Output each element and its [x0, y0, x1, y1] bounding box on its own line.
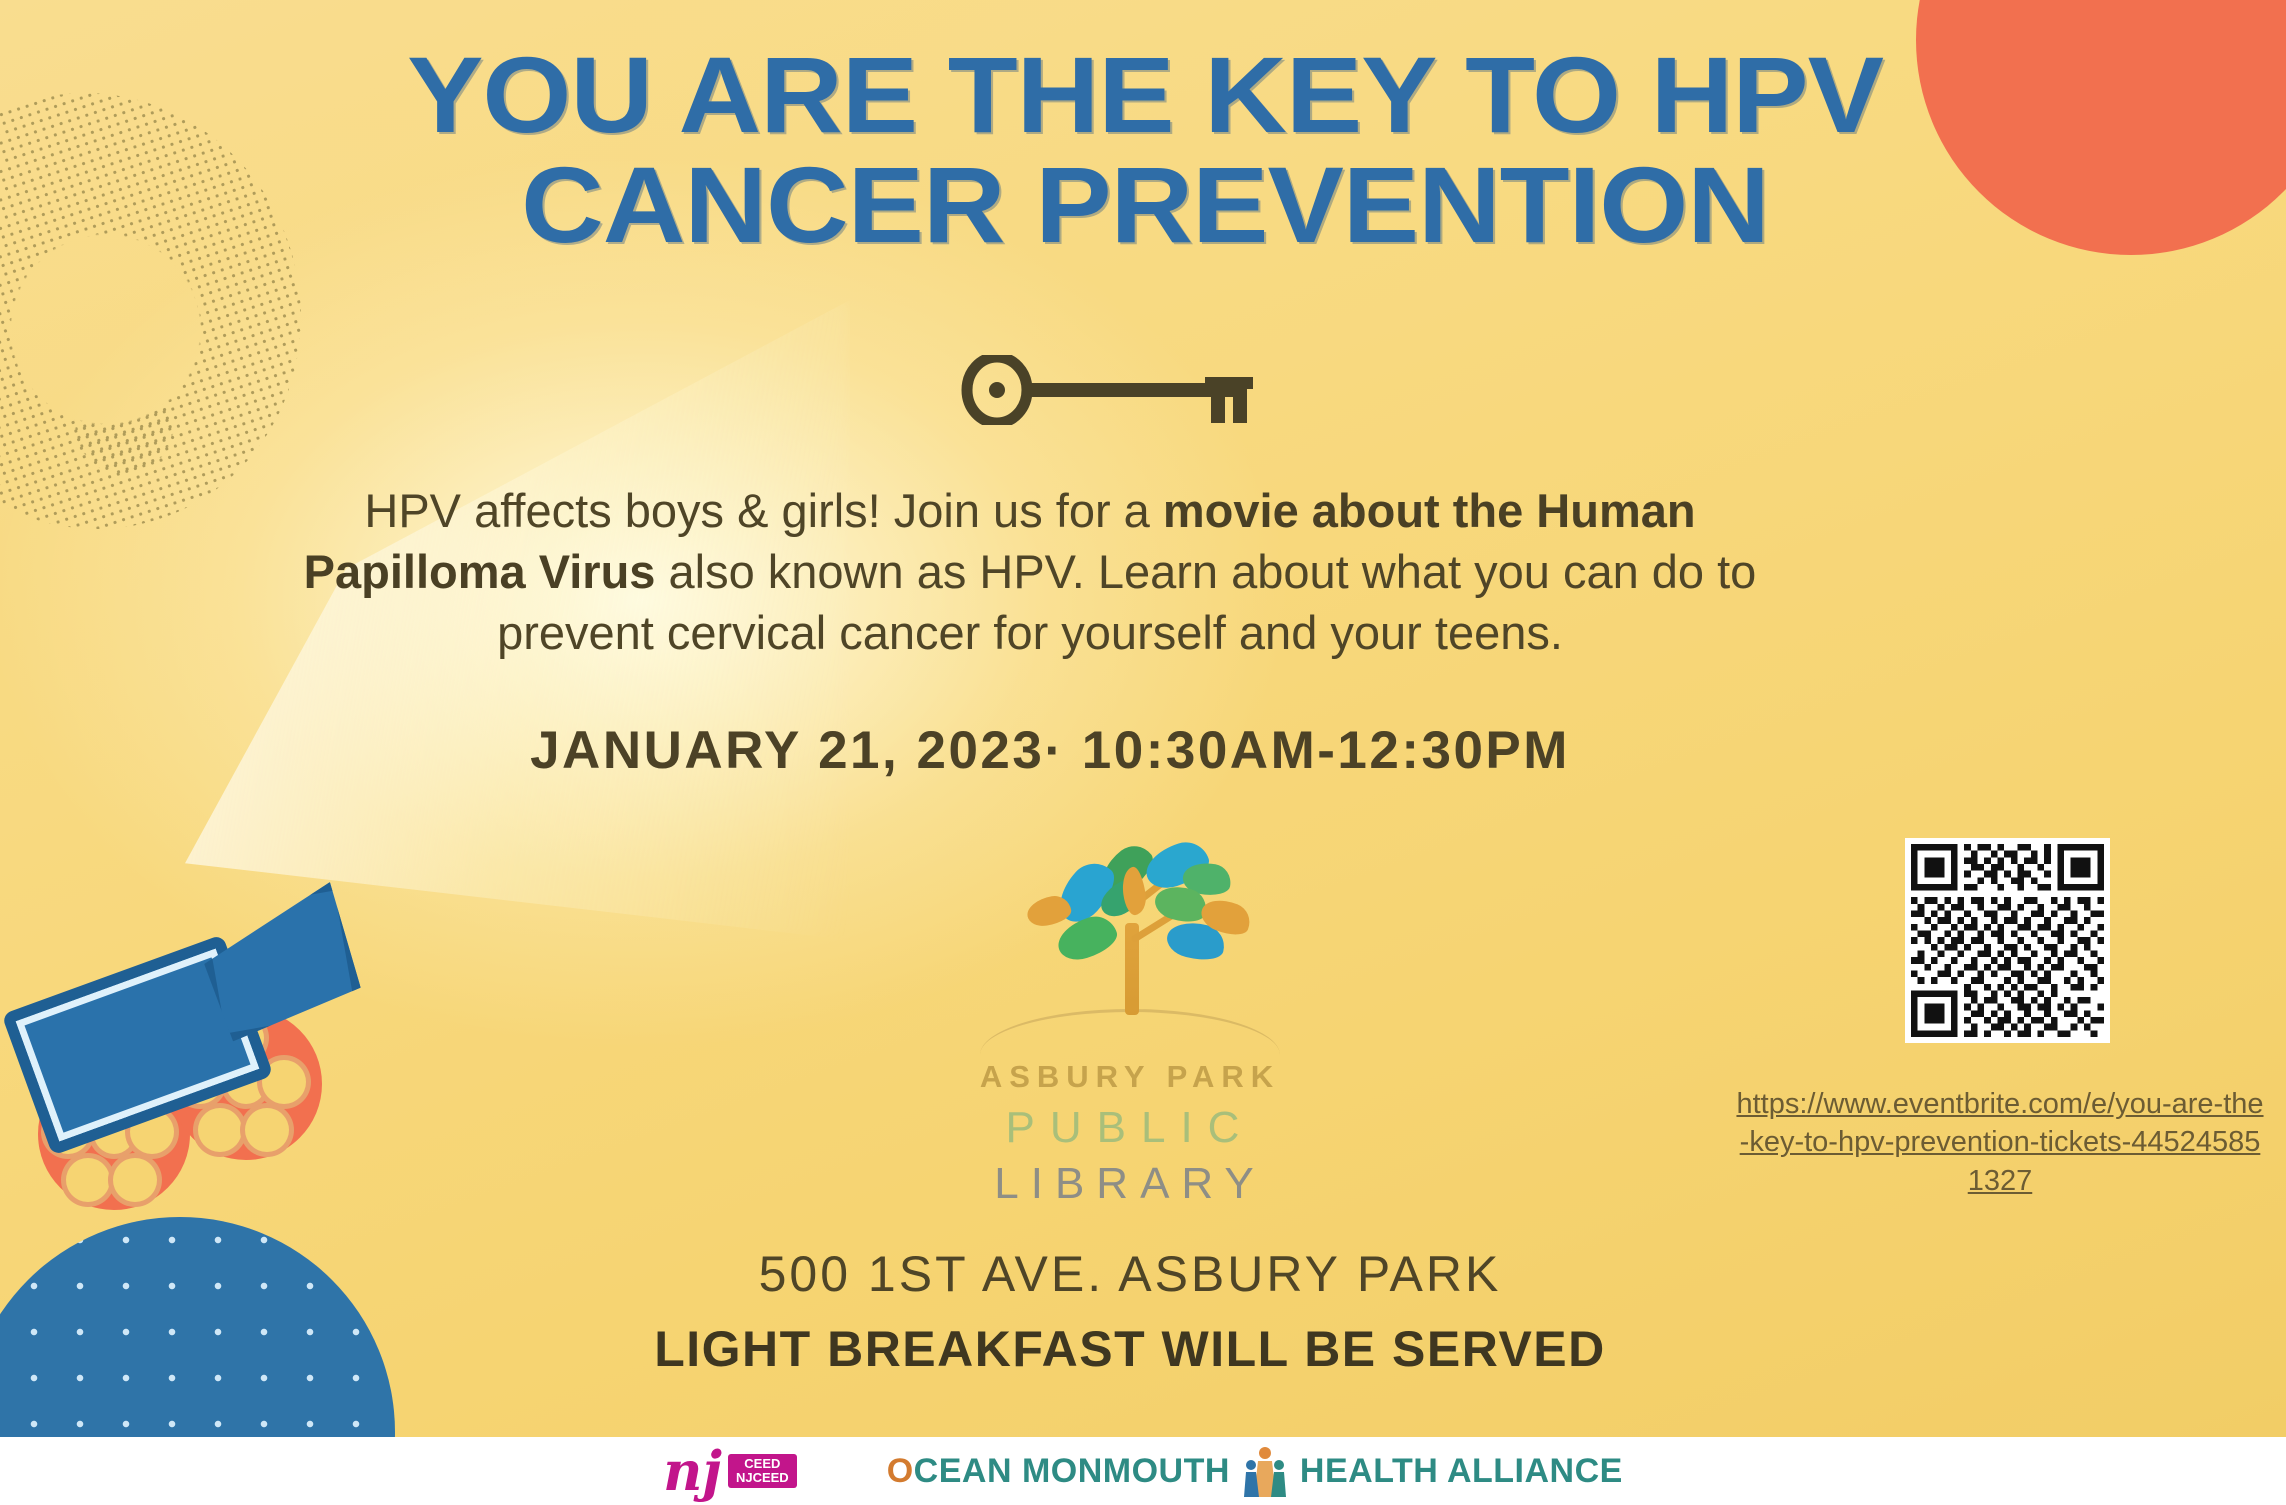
ocean-monmouth-health-alliance-logo: OCEAN MONMOUTH HEALTH ALLIANCE	[887, 1445, 1623, 1497]
tree-logo-icon	[1005, 845, 1255, 1015]
alliance-word1-rest: CEAN	[914, 1452, 1012, 1490]
family-figures-icon	[1244, 1445, 1286, 1497]
njceed-badge-line-1: CEED	[744, 1457, 780, 1471]
logo-flourish	[980, 1009, 1280, 1055]
library-name-line-3: LIBRARY	[960, 1159, 1300, 1209]
poster-content: YOU ARE THE KEY TO HPV CANCER PREVENTION…	[0, 0, 2286, 1437]
njceed-badge: CEED NJCEED	[728, 1454, 797, 1489]
njceed-badge-line-2: NJCEED	[736, 1471, 789, 1485]
flyer-poster: YOU ARE THE KEY TO HPV CANCER PREVENTION…	[0, 0, 2286, 1505]
alliance-word1-first: O	[887, 1452, 914, 1490]
title-line-2: CANCER PREVENTION	[281, 150, 2009, 260]
key-icon	[955, 355, 1295, 425]
alliance-word2: MONMOUTH	[1022, 1452, 1230, 1490]
event-date-time: JANUARY 21, 2023· 10:30AM-12:30PM	[300, 720, 1800, 781]
qr-code-icon[interactable]	[1905, 838, 2110, 1043]
alliance-text-left: OCEAN MONMOUTH	[887, 1452, 1230, 1491]
venue-address: 500 1ST AVE. ASBURY PARK	[400, 1245, 1860, 1303]
footer-logos: nj CEED NJCEED OCEAN MONMOUTH HEALTH ALL…	[0, 1437, 2286, 1505]
library-name-line-2: PUBLIC	[960, 1103, 1300, 1153]
library-name-line-1: ASBURY PARK	[960, 1059, 1300, 1095]
njceed-script: nj	[663, 1444, 722, 1498]
body-part-2: also known as HPV. Learn about what you …	[497, 545, 1756, 659]
alliance-text-right: HEALTH ALLIANCE	[1300, 1452, 1623, 1491]
library-logo: ASBURY PARK PUBLIC LIBRARY	[960, 845, 1300, 1245]
event-url[interactable]: https://www.eventbrite.com/e/you-are-the…	[1735, 1085, 2265, 1200]
body-part-1: HPV affects boys & girls! Join us for a	[364, 484, 1162, 537]
title-line-1: YOU ARE THE KEY TO HPV	[281, 40, 2009, 150]
body-copy: HPV affects boys & girls! Join us for a …	[300, 480, 1760, 663]
njceed-logo: nj CEED NJCEED	[663, 1444, 797, 1498]
page-title: YOU ARE THE KEY TO HPV CANCER PREVENTION	[281, 40, 2009, 260]
breakfast-note: LIGHT BREAKFAST WILL BE SERVED	[400, 1320, 1860, 1378]
